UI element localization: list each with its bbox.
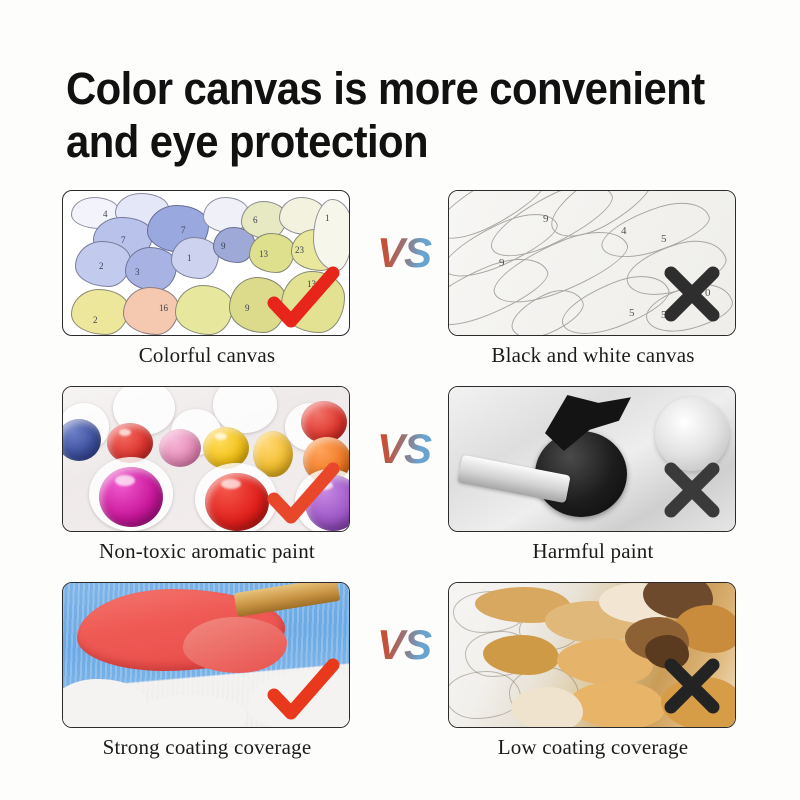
- caption-black-and-white-canvas: Black and white canvas: [448, 343, 738, 368]
- artwork-low-coating: [449, 583, 735, 727]
- comparison-bad-cell: Harmful paint: [448, 386, 738, 564]
- thumbnail-harmful-paint[interactable]: [448, 386, 736, 532]
- vs-badge: VS: [372, 428, 436, 470]
- comparison-rows: 4 7 2 3 7 1 9 6 13 23 13 16 9 2: [0, 190, 800, 778]
- artwork-colorful-paint-pots: [63, 387, 349, 531]
- comparison-good-cell: Non-toxic aromatic paint: [62, 386, 352, 564]
- comparison-row: Strong coating coverage VS: [0, 582, 800, 778]
- thumbnail-non-toxic-paint[interactable]: [62, 386, 350, 532]
- artwork-strong-coating: [63, 583, 349, 727]
- thumbnail-strong-coating[interactable]: [62, 582, 350, 728]
- caption-non-toxic-paint: Non-toxic aromatic paint: [62, 539, 352, 564]
- comparison-bad-cell: Low coating coverage: [448, 582, 738, 760]
- vs-badge: VS: [372, 232, 436, 274]
- artwork-black-and-white-outline-canvas: 9 4 5 9 5 5 0: [449, 191, 735, 335]
- infographic-page: Color canvas is more convenient and eye …: [0, 0, 800, 800]
- thumbnail-low-coating[interactable]: [448, 582, 736, 728]
- artwork-colorful-numbered-canvas: 4 7 2 3 7 1 9 6 13 23 13 16 9 2: [63, 191, 349, 335]
- thumbnail-colorful-canvas[interactable]: 4 7 2 3 7 1 9 6 13 23 13 16 9 2: [62, 190, 350, 336]
- artwork-black-paint-pouring: [449, 387, 735, 531]
- thumbnail-black-and-white-canvas[interactable]: 9 4 5 9 5 5 0: [448, 190, 736, 336]
- caption-strong-coating: Strong coating coverage: [62, 735, 352, 760]
- caption-low-coating: Low coating coverage: [448, 735, 738, 760]
- comparison-row: 4 7 2 3 7 1 9 6 13 23 13 16 9 2: [0, 190, 800, 386]
- caption-colorful-canvas: Colorful canvas: [62, 343, 352, 368]
- comparison-good-cell: Strong coating coverage: [62, 582, 352, 760]
- comparison-good-cell: 4 7 2 3 7 1 9 6 13 23 13 16 9 2: [62, 190, 352, 368]
- vs-badge: VS: [372, 624, 436, 666]
- comparison-bad-cell: 9 4 5 9 5 5 0 Black and white canvas: [448, 190, 738, 368]
- caption-harmful-paint: Harmful paint: [448, 539, 738, 564]
- page-title: Color canvas is more convenient and eye …: [66, 62, 708, 168]
- comparison-row: Non-toxic aromatic paint VS Harmful pain…: [0, 386, 800, 582]
